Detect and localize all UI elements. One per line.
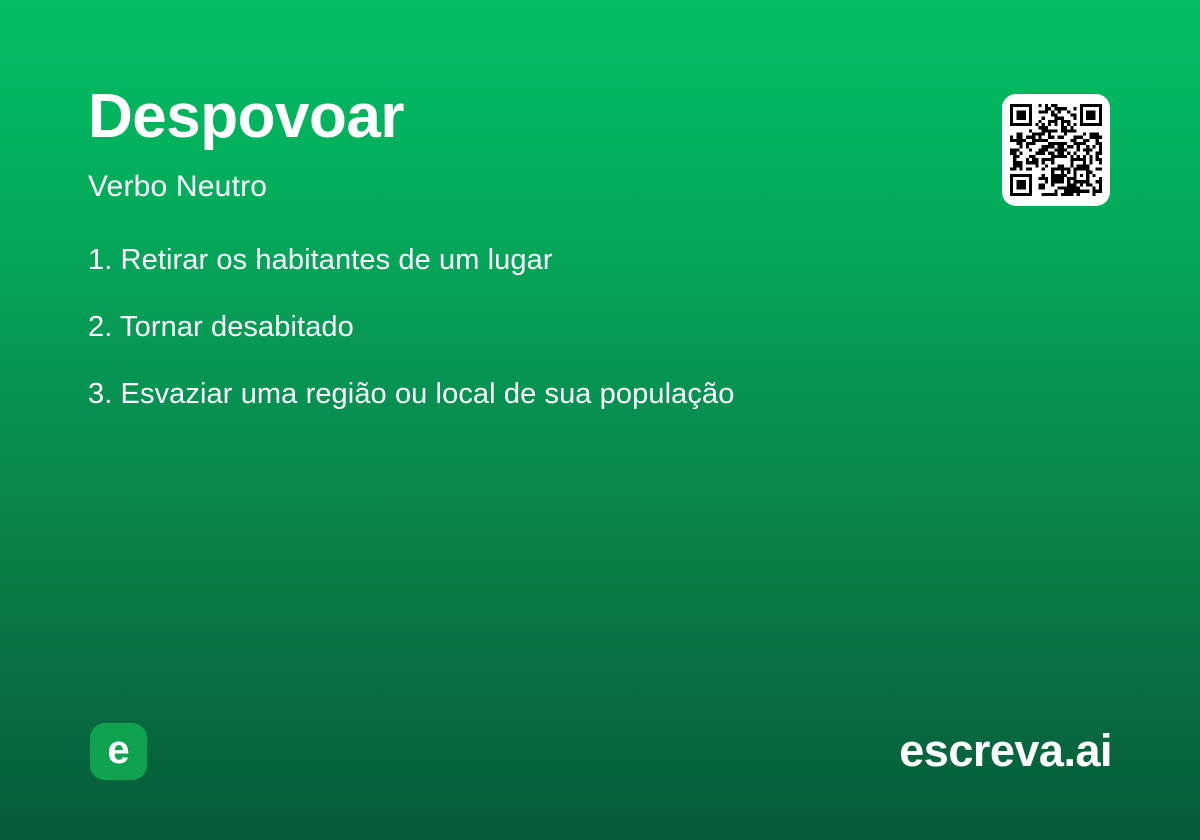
qr-code-icon[interactable] [1010,104,1102,196]
brand-name: escreva.ai [899,725,1112,777]
list-item: 1. Retirar os habitantes de um lugar [88,246,1088,275]
page-title: Despovoar [88,86,948,148]
list-item: 3. Esvaziar uma região ou local de sua p… [88,380,1088,409]
headline-block: Despovoar Verbo Neutro [88,86,948,202]
logo-letter: e [107,730,129,770]
word-class-label: Verbo Neutro [88,172,948,202]
definition-list: 1. Retirar os habitantes de um lugar 2. … [88,246,1088,409]
qr-code-panel[interactable] [1002,94,1110,206]
list-item: 2. Tornar desabitado [88,313,1088,342]
brand-logo: e [90,723,147,780]
word-definition-card: Despovoar Verbo Neutro 1. Retirar os hab… [0,0,1200,840]
